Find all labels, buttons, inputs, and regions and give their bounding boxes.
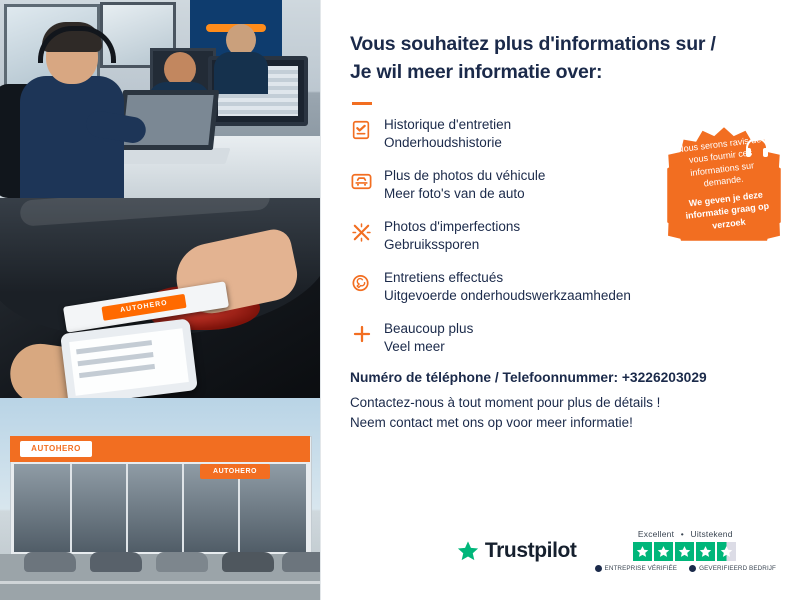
label-separator: • [681,529,684,539]
contact-invitation: Contactez-nous à tout moment pour plus d… [350,393,774,433]
verified-badge-icon-nl [689,565,696,572]
window-logo: AUTOHERO [200,464,270,479]
trustpilot-verified-labels: ENTREPRISE VÉRIFIÉE GEVERIFIEERD BEDRIJF [595,565,776,572]
feature-label-nl: Veel meer [384,338,473,356]
feature-much-more: Beaucoup plus Veel meer [350,319,774,356]
star-filled-2 [654,542,673,561]
feature-label-nl: Onderhoudshistorie [384,134,511,152]
feature-label-fr: Historique d'entretien [384,116,511,134]
photo-car-inspection: AUTOHERO [0,198,320,398]
checklist-icon [350,115,384,145]
feature-label-fr: Entretiens effectués [384,269,631,287]
feature-text: Plus de photos du véhicule Meer foto's v… [384,166,545,203]
rating-label-nl: Uitstekend [690,529,732,539]
promo-page: AUTOHERO AUTOHERO AUTOHERO [0,0,800,600]
star-filled-4 [696,542,715,561]
page-title: Vous souhaitez plus d'informations sur /… [350,30,774,86]
car-photo-icon [350,166,384,196]
staff-member-3 [214,24,268,78]
title-line-nl: Je wil meer informatie over: [350,61,602,83]
info-on-request-badge: Nous serons ravis de vous fournir ces in… [658,118,790,250]
badge-text-fr: Nous serons ravis de vous fournir ces in… [669,132,774,194]
plus-icon [350,319,384,349]
trustpilot-rating: Trustpilot Excellent • Uitstekend E [457,529,776,572]
feature-label-nl: Meer foto's van de auto [384,185,545,203]
trustpilot-rating-labels: Excellent • Uitstekend [638,529,733,539]
wrench-search-icon [350,268,384,298]
phone-number-label: Numéro de téléphone / Telefoonnummer: +3… [350,370,774,385]
star-filled-1 [633,542,652,561]
trustpilot-stars [633,542,738,561]
badge-text: Nous serons ravis de vous fournir ces in… [650,110,797,257]
trustpilot-score-block: Excellent • Uitstekend ENTREPRISE VÉRIFI… [595,529,776,572]
facade-logo: AUTOHERO [20,441,92,457]
scratch-icon [350,217,384,247]
photo-column: AUTOHERO AUTOHERO AUTOHERO [0,0,320,600]
title-line-fr: Vous souhaitez plus d'informations sur / [350,33,716,55]
trustpilot-logo: Trustpilot [457,539,577,563]
verified-badge-icon [595,565,602,572]
feature-text: Entretiens effectués Uitgevoerde onderho… [384,268,631,305]
title-underline [352,102,372,105]
rating-label-fr: Excellent [638,529,674,539]
star-filled-3 [675,542,694,561]
star-half-5 [717,542,736,561]
feature-text: Historique d'entretien Onderhoudshistori… [384,115,511,152]
verified-label-fr: ENTREPRISE VÉRIFIÉE [605,565,678,572]
trustpilot-star-icon [457,540,479,562]
info-panel: Vous souhaitez plus d'informations sur /… [320,0,800,600]
contact-text-fr: Contactez-nous à tout moment pour plus d… [350,395,660,410]
contact-text-nl: Neem contact met ons op voor meer inform… [350,415,633,430]
feature-services-performed: Entretiens effectués Uitgevoerde onderho… [350,268,774,305]
badge-text-nl: We geven je deze informatie graag op ver… [675,187,779,236]
feature-text: Beaucoup plus Veel meer [384,319,473,356]
feature-label-nl: Gebruikssporen [384,236,520,254]
feature-label-nl: Uitgevoerde onderhoudswerkzaamheden [384,287,631,305]
feature-label-fr: Photos d'imperfections [384,218,520,236]
feature-text: Photos d'imperfections Gebruikssporen [384,217,520,254]
verified-label-nl: GEVERIFIEERD BEDRIJF [699,565,776,572]
staff-member-1 [20,28,124,198]
photo-dealership-exterior: AUTOHERO AUTOHERO [0,398,320,600]
photo-dealership-staff [0,0,320,198]
feature-label-fr: Plus de photos du véhicule [384,167,545,185]
trustpilot-wordmark: Trustpilot [485,539,577,563]
feature-label-fr: Beaucoup plus [384,320,473,338]
